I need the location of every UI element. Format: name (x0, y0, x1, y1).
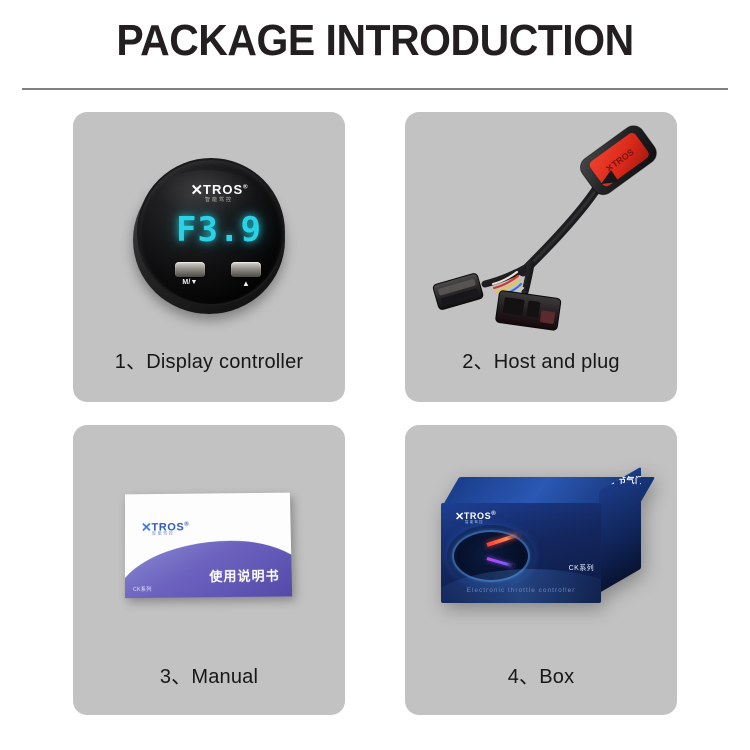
manual-booklet: ✕TROS® 智能驾控 使用说明书 CK系列 (125, 493, 292, 598)
package-introduction-page: PACKAGE INTRODUCTION ✕TROS® 智能驾控 F3.9 (0, 0, 750, 750)
package-item-host-and-plug[interactable]: ✕TROS 2、Host and plug (405, 112, 677, 402)
box-brand-subtitle: 智能驾控 (465, 520, 484, 525)
package-item-manual[interactable]: ✕TROS® 智能驾控 使用说明书 CK系列 3、Manual (73, 425, 345, 715)
up-button-label: ▲ (226, 279, 266, 288)
controller-brand-logo: ✕TROS® (139, 182, 299, 197)
led-display-value: F3.9 (139, 210, 299, 250)
controller-brand-subtitle: 智能驾控 (139, 196, 299, 203)
package-items-grid: ✕TROS® 智能驾控 F3.9 M/▼ ▲ 1、Display control… (0, 0, 750, 750)
mode-down-button-label: M/▼ (170, 279, 210, 286)
box-subtitle-english: Electronic throttle controller (441, 587, 601, 594)
manual-series-label: CK系列 (133, 586, 152, 593)
host-and-plug-image: ✕TROS (405, 112, 677, 352)
brand-star-icon: ✕ (455, 512, 465, 523)
registered-mark: ® (243, 185, 247, 191)
package-item-caption-1: 1、Display controller (73, 345, 345, 374)
package-item-caption-2: 2、Host and plug (405, 345, 677, 374)
host-and-plug-illustration: ✕TROS (405, 112, 677, 352)
package-item-caption-3: 3、Manual (73, 660, 345, 689)
manual-image: ✕TROS® 智能驾控 使用说明书 CK系列 (73, 425, 345, 650)
package-item-caption-4: 4、Box (405, 660, 677, 689)
manual-title-chinese: 使用说明书 (209, 565, 280, 585)
manual-brand-subtitle: 智能驾控 (152, 530, 174, 536)
registered-mark: ® (184, 522, 188, 528)
mode-down-button[interactable] (175, 262, 205, 277)
display-controller-image: ✕TROS® 智能驾控 F3.9 M/▼ ▲ (73, 112, 345, 337)
controller-face: ✕TROS® 智能驾控 F3.9 M/▼ ▲ (137, 158, 285, 306)
brand-name: TROS (203, 182, 243, 197)
controller-buttons: M/▼ ▲ (173, 260, 265, 300)
registered-mark: ® (491, 511, 495, 517)
controller-device: ✕TROS® 智能驾控 F3.9 M/▼ ▲ (129, 154, 289, 314)
package-item-display-controller[interactable]: ✕TROS® 智能驾控 F3.9 M/▼ ▲ 1、Display control… (73, 112, 345, 402)
up-button[interactable] (231, 262, 261, 277)
box-image: 电子节气门控制器 ✕TROS® 智能驾控 CK系列 (405, 425, 677, 650)
product-box: 电子节气门控制器 ✕TROS® 智能驾控 CK系列 (441, 477, 641, 609)
box-front-face: ✕TROS® 智能驾控 CK系列 Electronic throttle con… (441, 503, 601, 603)
package-item-box[interactable]: 电子节气门控制器 ✕TROS® 智能驾控 CK系列 (405, 425, 677, 715)
brand-star-icon: ✕ (141, 521, 152, 534)
